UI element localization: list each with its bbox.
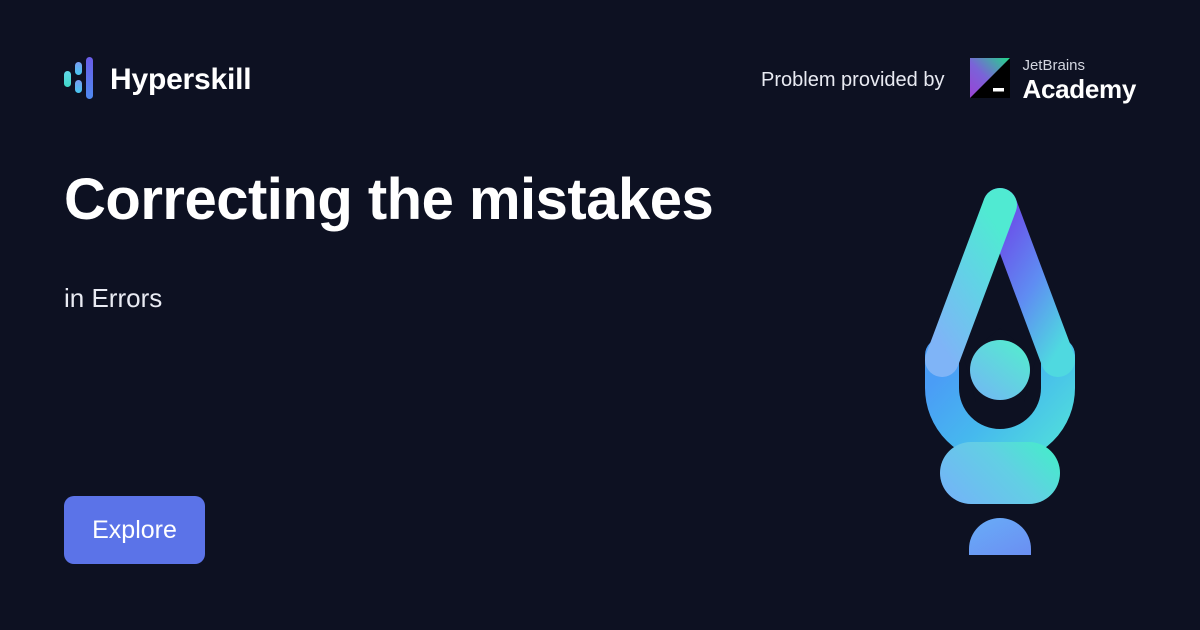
hyperskill-brand-name: Hyperskill (110, 65, 251, 95)
promo-card: Hyperskill Problem provided by (0, 0, 1200, 630)
jetbrains-square-icon (970, 58, 1010, 103)
explore-button[interactable]: Explore (64, 496, 205, 564)
pen-nib-illustration (920, 180, 1080, 555)
hyperskill-bars-icon (64, 56, 94, 105)
vertical-bar (969, 518, 1031, 555)
page-title: Correcting the mistakes (64, 168, 864, 233)
jetbrains-academy-wordmark: JetBrains Academy (1022, 58, 1136, 102)
nib-triangle (942, 205, 1058, 446)
pill-bar (940, 442, 1060, 504)
jetbrains-wordmark-bottom: Academy (1022, 76, 1136, 102)
provider-label: Problem provided by (761, 69, 944, 92)
jetbrains-wordmark-top: JetBrains (1022, 58, 1136, 73)
hyperskill-brand[interactable]: Hyperskill (64, 56, 251, 105)
jetbrains-academy-logo[interactable]: JetBrains Academy (970, 58, 1136, 103)
provider-block: Problem provided by (761, 58, 1136, 103)
main-content: Correcting the mistakes in Errors (64, 168, 864, 314)
page-subtitle: in Errors (64, 283, 864, 314)
header: Hyperskill Problem provided by (0, 0, 1200, 160)
nib-circle (970, 340, 1030, 400)
